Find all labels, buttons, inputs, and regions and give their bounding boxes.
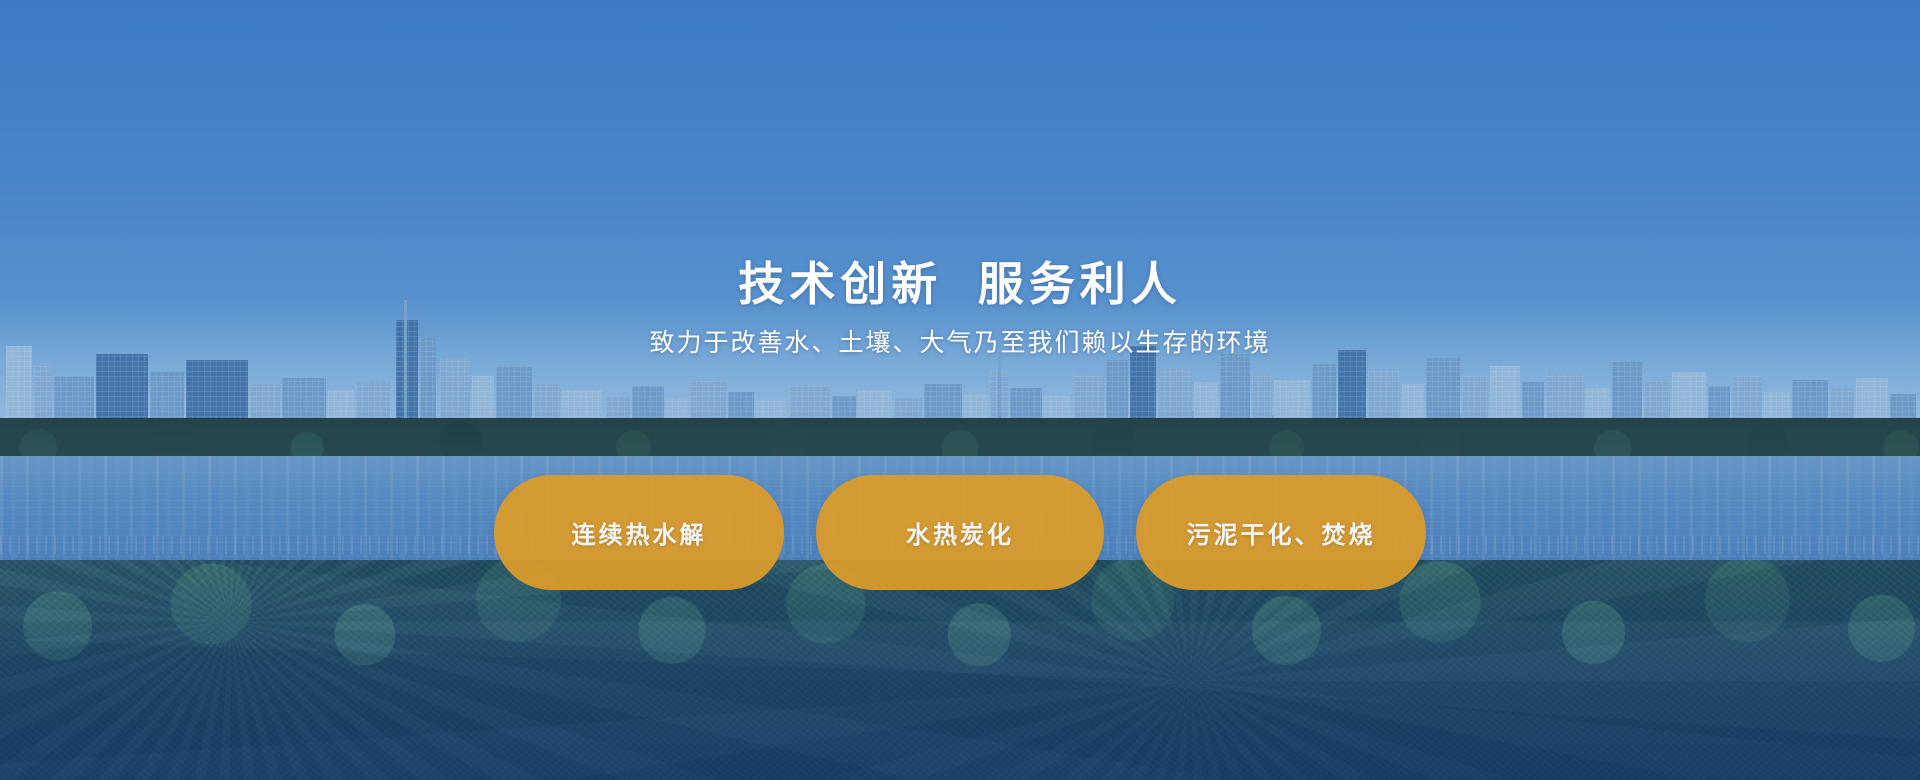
- hero-banner: 技术创新 服务利人 致力于改善水、土壤、大气乃至我们赖以生存的环境 连续热水解 …: [0, 0, 1920, 780]
- treeline-tint: [0, 418, 1920, 460]
- mangrove-shading: [0, 560, 1920, 780]
- button-sludge-drying-incineration[interactable]: 污泥干化、焚烧: [1136, 475, 1426, 590]
- button-label: 水热炭化: [906, 515, 1014, 550]
- button-label: 连续热水解: [572, 515, 707, 550]
- page-title: 技术创新 服务利人: [0, 255, 1920, 313]
- hero-caption: 技术创新 服务利人 致力于改善水、土壤、大气乃至我们赖以生存的环境: [0, 255, 1920, 361]
- hero-button-row: 连续热水解 水热炭化 污泥干化、焚烧: [0, 475, 1920, 590]
- button-hydrothermal-carbonization[interactable]: 水热炭化: [816, 475, 1104, 590]
- button-label: 污泥干化、焚烧: [1187, 515, 1376, 550]
- button-continuous-thermal-hydrolysis[interactable]: 连续热水解: [494, 475, 784, 590]
- page-subtitle: 致力于改善水、土壤、大气乃至我们赖以生存的环境: [0, 325, 1920, 361]
